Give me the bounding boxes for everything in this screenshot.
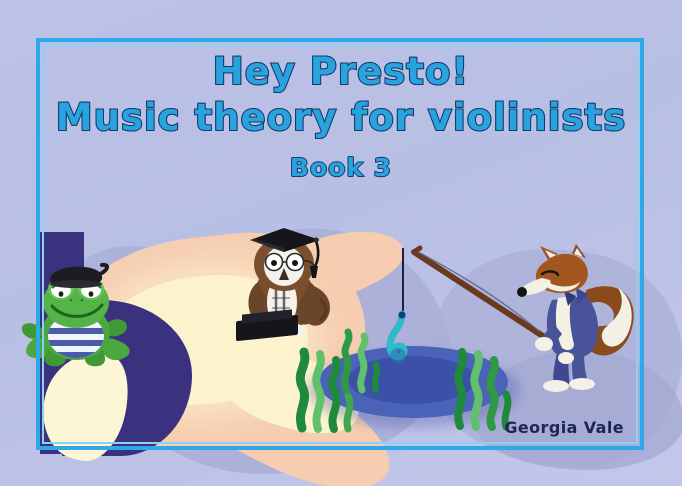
fishing-hook-note-icon — [378, 312, 424, 382]
book-cover: Hey Presto! Music theory for violinists … — [0, 0, 682, 486]
author-name: Georgia Vale — [504, 418, 624, 437]
frog-character — [16, 258, 140, 374]
fox-character — [514, 244, 642, 394]
fishing-line — [402, 248, 404, 316]
